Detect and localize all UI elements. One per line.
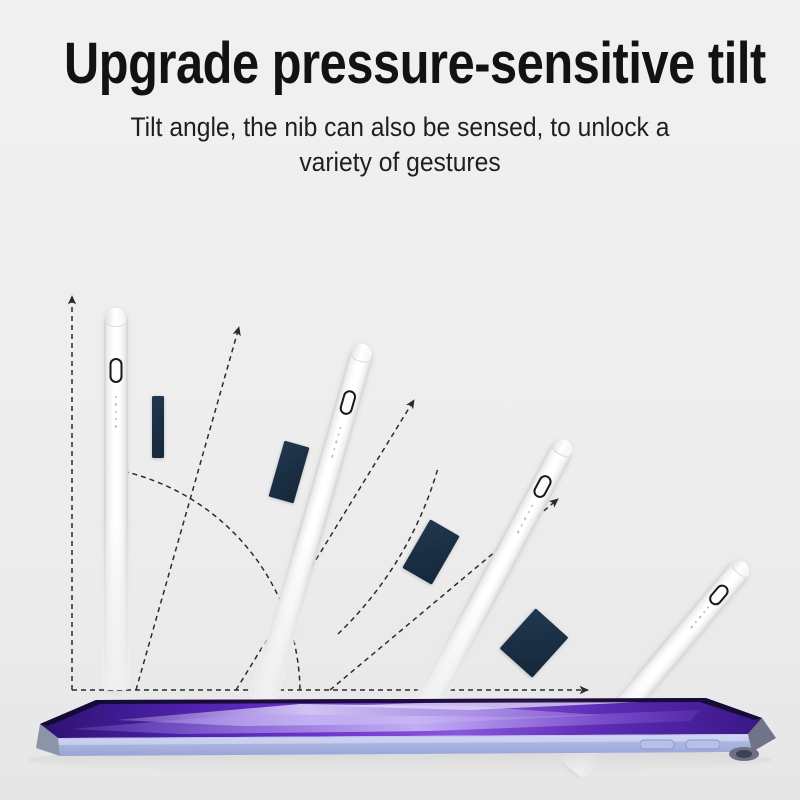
- stylus-upright: [104, 308, 128, 690]
- camera-lens-inner: [736, 750, 752, 758]
- stroke-swatch-thin: [152, 396, 164, 458]
- volume-up-button[interactable]: [640, 740, 674, 749]
- stylus-tip-cap: [106, 310, 126, 327]
- stylus-button[interactable]: [110, 358, 123, 383]
- tilt-ray-68: [136, 327, 239, 690]
- volume-down-button[interactable]: [686, 740, 720, 749]
- stylus-fade: [101, 514, 131, 690]
- tablet-device: [0, 684, 800, 800]
- stylus-indicator-dots: [115, 396, 117, 428]
- feature-banner: Upgrade pressure-sensitive tilt Tilt ang…: [0, 0, 800, 800]
